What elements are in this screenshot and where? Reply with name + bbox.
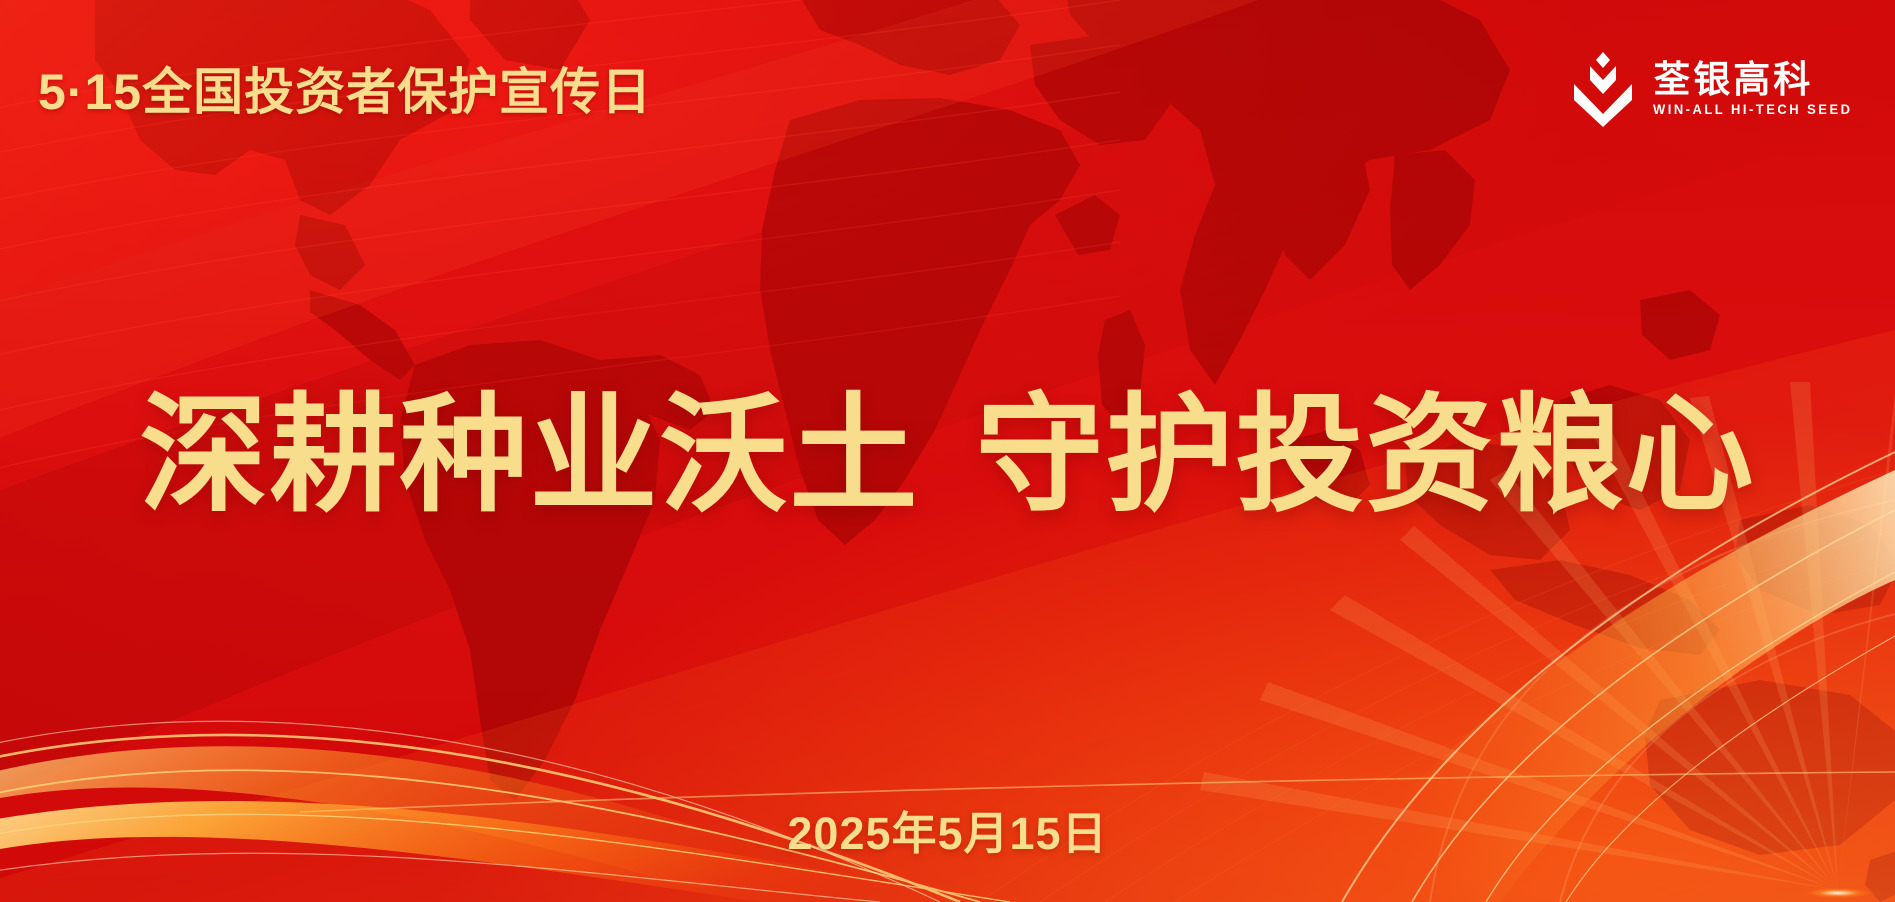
win-all-chevron-sprout-icon: [1570, 50, 1636, 128]
logo-wordmark: 荃银高科 WIN-ALL HI-TECH SEED: [1653, 61, 1861, 118]
campaign-eyebrow-title: 5·15全国投资者保护宣传日: [38, 52, 652, 124]
banner-content: 5·15全国投资者保护宣传日 荃银高科 WIN-ALL HI-TECH SEED…: [0, 0, 1895, 902]
logo-company-name-en: WIN-ALL HI-TECH SEED: [1653, 102, 1852, 117]
event-date: 2025年5月15日: [0, 797, 1895, 862]
company-logo: 荃银高科 WIN-ALL HI-TECH SEED: [1570, 50, 1861, 128]
main-headline: 深耕种业沃土守护投资粮心: [0, 392, 1895, 520]
headline-part-1: 深耕种业沃土: [139, 384, 919, 527]
headline-part-2: 守护投资粮心: [976, 384, 1756, 527]
logo-company-name-cn: 荃银高科: [1653, 61, 1861, 100]
investor-protection-day-banner: 5·15全国投资者保护宣传日 荃银高科 WIN-ALL HI-TECH SEED…: [0, 0, 1895, 902]
